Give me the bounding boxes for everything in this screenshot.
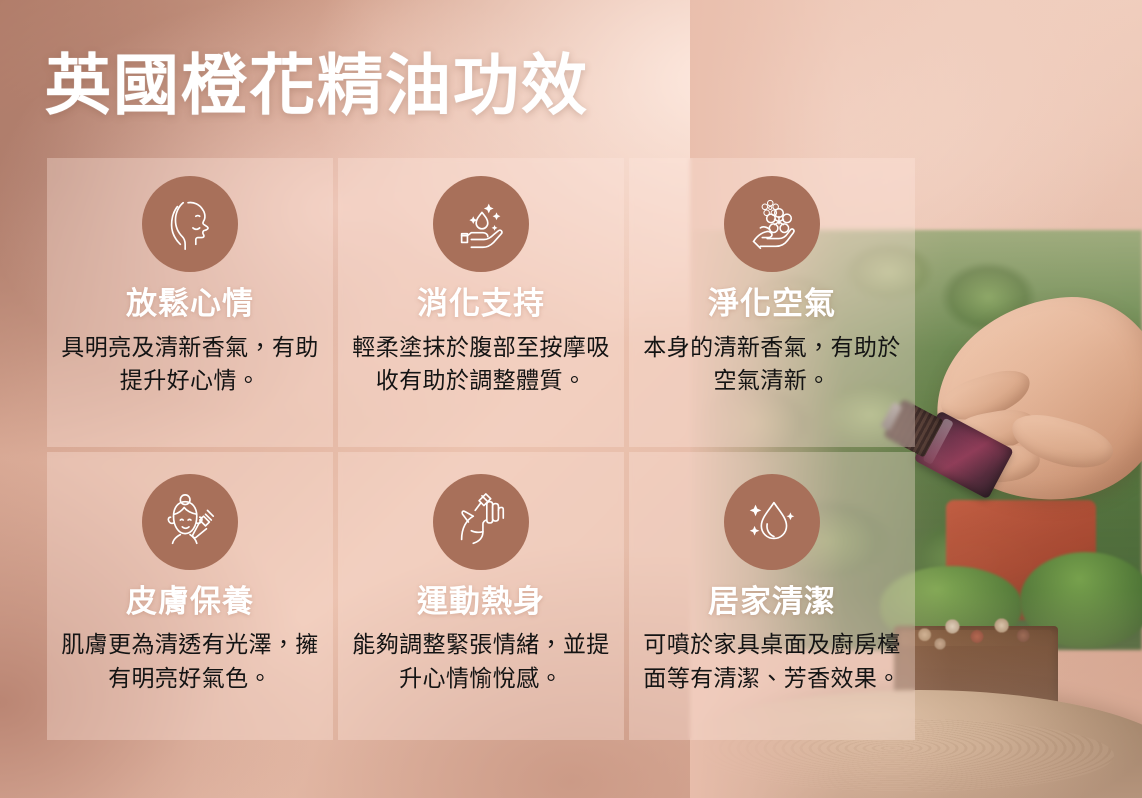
benefit-card-air-purify: 淨化空氣 本身的清新香氣，有助於空氣清新。 xyxy=(629,158,915,447)
benefit-card-digestion: 消化支持 輕柔塗抹於腹部至按摩吸收有助於調整體質。 xyxy=(338,158,624,447)
card-body: 可噴於家具桌面及廚房檯面等有清潔、芳香效果。 xyxy=(641,628,903,695)
hand-flowers-icon xyxy=(724,176,820,272)
face-profile-icon xyxy=(142,176,238,272)
benefit-card-workout: 運動熱身 能夠調整緊張情緒，並提升心情愉悅感。 xyxy=(338,452,624,741)
benefits-grid: 放鬆心情 具明亮及清新香氣，有助提升好心情。 消化支持 輕柔塗抹於腹部至按摩吸收… xyxy=(47,158,915,740)
card-body: 肌膚更為清透有光澤，擁有明亮好氣色。 xyxy=(59,628,321,695)
card-body: 能夠調整緊張情緒，並提升心情愉悅感。 xyxy=(350,628,612,695)
card-title: 淨化空氣 xyxy=(708,286,836,322)
card-title: 皮膚保養 xyxy=(126,584,254,620)
face-dropper-icon xyxy=(142,474,238,570)
droplet-sparkle-icon xyxy=(724,474,820,570)
page-title: 英國橙花精油功效 xyxy=(45,52,589,121)
arm-dropper-icon xyxy=(433,474,529,570)
card-title: 消化支持 xyxy=(417,286,545,322)
card-body: 本身的清新香氣，有助於空氣清新。 xyxy=(641,331,903,398)
card-body: 輕柔塗抹於腹部至按摩吸收有助於調整體質。 xyxy=(350,331,612,398)
benefit-card-relaxation: 放鬆心情 具明亮及清新香氣，有助提升好心情。 xyxy=(47,158,333,447)
benefit-card-home-clean: 居家清潔 可噴於家具桌面及廚房檯面等有清潔、芳香效果。 xyxy=(629,452,915,741)
card-body: 具明亮及清新香氣，有助提升好心情。 xyxy=(59,331,321,398)
card-title: 居家清潔 xyxy=(708,584,836,620)
benefit-card-skincare: 皮膚保養 肌膚更為清透有光澤，擁有明亮好氣色。 xyxy=(47,452,333,741)
infographic-poster: 英國橙花精油功效 放鬆心情 具明亮及清新香氣，有助提升好心情。 xyxy=(0,0,1142,798)
card-title: 運動熱身 xyxy=(417,584,545,620)
hand-droplet-sparkle-icon xyxy=(433,176,529,272)
card-title: 放鬆心情 xyxy=(126,286,254,322)
